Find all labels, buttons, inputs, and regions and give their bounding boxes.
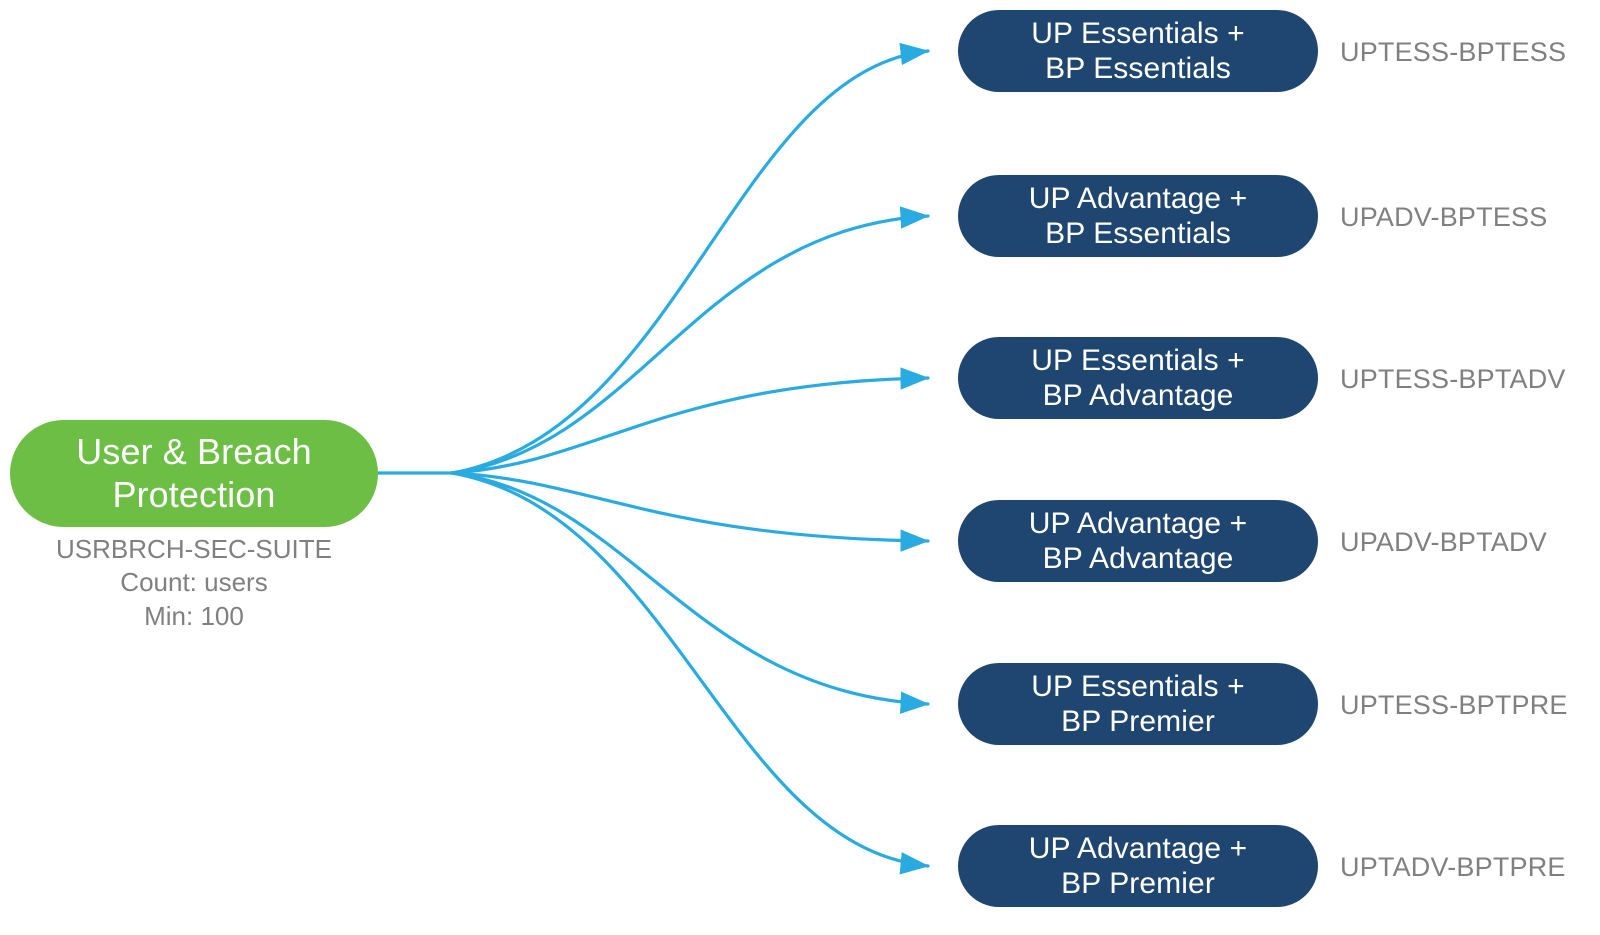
edge-to-leaf-6	[452, 473, 928, 866]
leaf-node-5-sku: UPTESS-BPTPRE	[1340, 690, 1568, 721]
leaf-node-6[interactable]: UP Advantage + BP Premier	[958, 825, 1318, 907]
leaf-node-6-sku: UPTADV-BPTPRE	[1340, 852, 1566, 883]
leaf-node-3[interactable]: UP Essentials + BP Advantage	[958, 337, 1318, 419]
leaf-node-1[interactable]: UP Essentials + BP Essentials	[958, 10, 1318, 92]
leaf-node-4-sku: UPADV-BPTADV	[1340, 527, 1547, 558]
leaf-node-2-sku: UPADV-BPTESS	[1340, 202, 1547, 233]
edge-to-leaf-3	[452, 378, 928, 473]
diagram-canvas: User & Breach Protection USRBRCH-SEC-SUI…	[0, 0, 1600, 935]
leaf-node-5[interactable]: UP Essentials + BP Premier	[958, 663, 1318, 745]
leaf-node-4[interactable]: UP Advantage + BP Advantage	[958, 500, 1318, 582]
leaf-node-3-label: UP Essentials + BP Advantage	[1017, 343, 1259, 414]
leaf-node-1-label: UP Essentials + BP Essentials	[1017, 16, 1259, 87]
edge-to-leaf-1	[452, 51, 928, 473]
leaf-node-5-label: UP Essentials + BP Premier	[1017, 669, 1259, 740]
leaf-node-6-label: UP Advantage + BP Premier	[1015, 831, 1262, 902]
edge-to-leaf-5	[452, 473, 928, 704]
edge-to-leaf-2	[452, 216, 928, 473]
root-node-user-breach-protection[interactable]: User & Breach Protection	[10, 420, 378, 527]
leaf-node-3-sku: UPTESS-BPTADV	[1340, 364, 1566, 395]
leaf-node-2-label: UP Advantage + BP Essentials	[1015, 181, 1262, 252]
leaf-node-2[interactable]: UP Advantage + BP Essentials	[958, 175, 1318, 257]
leaf-node-4-label: UP Advantage + BP Advantage	[1015, 506, 1262, 577]
leaf-node-1-sku: UPTESS-BPTESS	[1340, 37, 1566, 68]
root-node-caption: USRBRCH-SEC-SUITE Count: users Min: 100	[10, 533, 378, 633]
root-node-label: User & Breach Protection	[62, 431, 325, 516]
edge-to-leaf-4	[452, 473, 928, 541]
